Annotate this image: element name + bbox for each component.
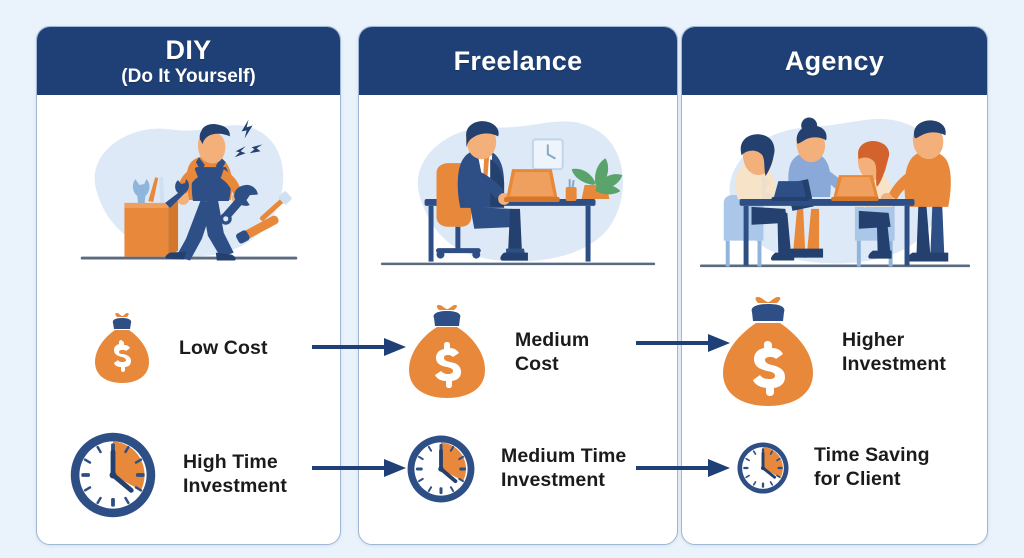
metric-label-line1: Medium Time bbox=[501, 445, 626, 467]
metric-label-line1: Time Saving bbox=[814, 444, 930, 466]
metric-cost-label-diy: Low Cost bbox=[179, 337, 268, 361]
card-title-agency: Agency bbox=[785, 47, 884, 76]
metric-label-line2: for Client bbox=[814, 468, 901, 490]
metric-label-line1: Low Cost bbox=[179, 337, 268, 359]
illustration-diy bbox=[37, 95, 340, 291]
card-header-agency: Agency bbox=[682, 27, 987, 95]
arrow-right-icon-cost-diy-to-freelance bbox=[312, 334, 408, 360]
metric-label-line2: Investment bbox=[842, 353, 946, 375]
arrow-right-icon-time-diy-to-freelance bbox=[312, 455, 408, 481]
metric-cost-diy: Low Cost bbox=[37, 313, 340, 385]
clock-icon bbox=[65, 427, 161, 523]
clock-icon bbox=[403, 431, 479, 507]
card-title-diy: DIY bbox=[166, 36, 212, 65]
money-bag-icon bbox=[403, 305, 491, 401]
metric-label-line1: Higher bbox=[842, 329, 904, 351]
metric-time-label-agency: Time Saving for Client bbox=[814, 444, 930, 492]
arrow-right-icon-cost-freelance-to-agency bbox=[636, 330, 732, 356]
metric-cost-label-freelance: Medium Cost bbox=[515, 329, 589, 377]
card-title-freelance: Freelance bbox=[454, 47, 583, 76]
metric-label-line2: Investment bbox=[183, 475, 287, 497]
metric-time-label-diy: High Time Investment bbox=[183, 451, 287, 499]
metric-cost-label-agency: Higher Investment bbox=[842, 329, 946, 377]
card-subtitle-diy: (Do It Yourself) bbox=[121, 66, 255, 88]
clock-icon bbox=[734, 439, 792, 497]
illustration-agency bbox=[682, 95, 987, 291]
metric-label-line2: Investment bbox=[501, 469, 605, 491]
metric-time-diy: High Time Investment bbox=[37, 427, 340, 523]
card-header-freelance: Freelance bbox=[359, 27, 677, 95]
arrow-right-icon-time-freelance-to-agency bbox=[636, 455, 732, 481]
card-header-diy: DIY (Do It Yourself) bbox=[37, 27, 340, 95]
illustration-freelance bbox=[359, 95, 677, 291]
metric-label-line1: High Time bbox=[183, 451, 278, 473]
column-card-diy: DIY (Do It Yourself) bbox=[36, 26, 341, 545]
comparison-infographic: DIY (Do It Yourself) bbox=[0, 0, 1024, 558]
metric-label-line1: Medium bbox=[515, 329, 589, 351]
money-bag-icon bbox=[91, 313, 153, 385]
metric-label-line2: Cost bbox=[515, 353, 559, 375]
metric-time-label-freelance: Medium Time Investment bbox=[501, 445, 626, 493]
